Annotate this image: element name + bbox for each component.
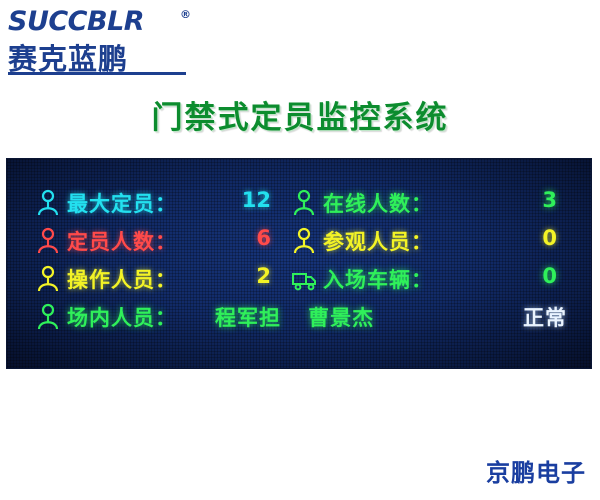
led-label: 在线人数： [323,188,433,218]
led-value: 2 [231,264,271,288]
led-display-panel: 最大定员： 12 在线人数： 3 [6,158,592,369]
truck-green-icon [291,265,317,293]
led-cell-online-count: 在线人数： 3 [289,187,567,219]
company-logo: SUCCBLR ® 赛克蓝鹏 [8,6,228,68]
led-row: 最大定员： 12 在线人数： 3 [33,187,567,219]
person-yellow-icon [35,265,61,293]
led-content: 最大定员： 12 在线人数： 3 [33,185,567,345]
led-label: 定员人数： [67,226,177,256]
person-cyan-icon [35,189,61,217]
led-cell-assigned-count: 定员人数： 6 [33,225,289,257]
led-row-onsite-personnel: 场内人员： 程军担 曹景杰 正常 [33,301,567,333]
led-label: 场内人员： [67,302,177,332]
led-row: 操作人员： 2 入场车辆： 0 [33,263,567,295]
led-label: 参观人员： [323,226,433,256]
registered-trademark-icon: ® [180,8,191,21]
logo-underline [8,72,186,75]
person-red-icon [35,227,61,255]
logo-latin-text: SUCCBLR [8,6,144,37]
person-yellow-icon [291,227,317,255]
led-label: 最大定员： [67,188,177,218]
led-value: 12 [231,188,271,212]
onsite-personnel-names: 程军担 曹景杰 [215,302,445,332]
led-value: 0 [517,226,557,250]
person-green-icon [291,189,317,217]
status-badge: 正常 [473,302,567,332]
led-cell-operator-count: 操作人员： 2 [33,263,289,295]
led-cell-visitor-count: 参观人员： 0 [289,225,567,257]
led-label: 入场车辆： [323,264,433,294]
list-item: 程军担 [215,302,281,332]
led-label: 操作人员： [67,264,177,294]
led-cell-max-capacity: 最大定员： 12 [33,187,289,219]
led-value: 3 [517,188,557,212]
led-value: 0 [517,264,557,288]
list-item: 曹景杰 [308,302,374,332]
led-value: 6 [231,226,271,250]
led-row: 定员人数： 6 参观人员： 0 [33,225,567,257]
footer-brand: 京鹏电子 [486,453,586,488]
person-green-icon [35,303,61,331]
page-title: 门禁式定员监控系统 [0,92,600,137]
led-cell-vehicle-count: 入场车辆： 0 [289,263,567,295]
